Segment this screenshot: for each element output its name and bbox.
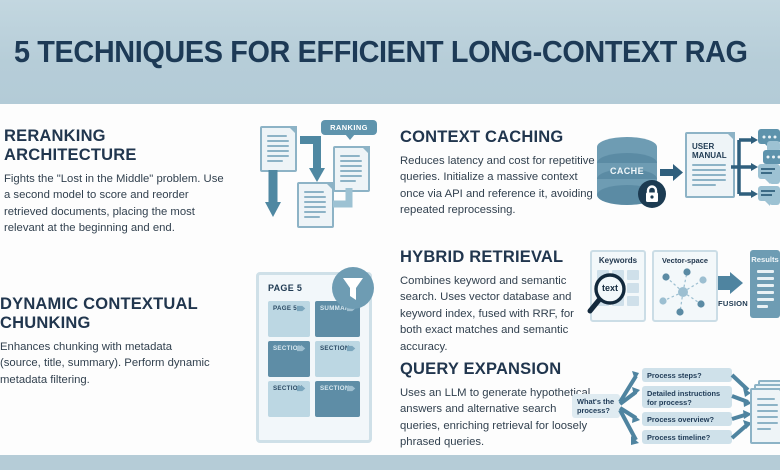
section-title-hybrid: HYBRID RETRIEVAL <box>400 248 596 267</box>
expansion-arrows <box>618 366 642 456</box>
page-panel-header: PAGE 5 <box>268 283 302 293</box>
chunk-tile-label: SECTION <box>320 345 350 352</box>
magnifier-text-label: text <box>596 283 624 293</box>
tag-icon <box>297 385 306 392</box>
section-hybrid-retrieval: HYBRID RETRIEVAL Combines keyword and se… <box>400 248 596 355</box>
results-panel: Results <box>750 250 780 318</box>
results-label: Results <box>750 255 780 264</box>
chunk-tile: SECTION <box>315 341 360 377</box>
tag-icon <box>347 345 356 352</box>
section-body-reranking: Fights the "Lost in the Middle" problem.… <box>4 171 232 237</box>
chunk-tile: SECTION <box>315 381 360 417</box>
chunk-tile-label: SECTION <box>320 385 350 392</box>
section-context-caching: CONTEXT CACHING Reduces latency and cost… <box>400 128 596 219</box>
expanded-query-box: Process overview? <box>642 412 732 426</box>
section-title-query: QUERY EXPANSION <box>400 360 596 379</box>
keywords-label: Keywords <box>592 256 644 265</box>
section-body-hybrid: Combines keyword and semantic search. Us… <box>400 273 596 355</box>
hybrid-illustration: Keywords text Vector-space <box>590 250 780 335</box>
doc-to-bubbles-connector <box>729 132 759 206</box>
chunk-tile: SECTION <box>268 341 310 377</box>
magnifier-icon <box>588 272 632 316</box>
chat-bubble-icon <box>769 174 780 184</box>
cache-to-doc-arrow <box>660 163 684 183</box>
section-title-caching: CONTEXT CACHING <box>400 128 596 147</box>
chat-bubble-icon <box>763 150 780 164</box>
chat-bubble-icon <box>769 196 780 205</box>
dots-icon <box>766 155 780 159</box>
section-body-query: Uses an LLM to generate hypothetical ans… <box>400 385 596 451</box>
chunk-tile: SECTION <box>268 381 310 417</box>
vector-space-panel: Vector-space <box>652 250 718 322</box>
vector-space-label: Vector-space <box>654 256 716 265</box>
reranking-illustration: RANKING <box>255 118 385 230</box>
expanded-query-box: Detailed instructions for process? <box>642 386 732 408</box>
source-query-line2: process? <box>577 406 615 415</box>
cache-label: CACHE <box>595 166 659 176</box>
user-manual-label-line1: USER <box>692 142 714 151</box>
section-body-caching: Reduces latency and cost for repetitive … <box>400 153 596 219</box>
infographic-page: 5 TECHNIQUES FOR EFFICIENT LONG-CONTEXT … <box>0 0 780 470</box>
section-title-chunking: DYNAMIC CONTEXTUAL CHUNKING <box>0 295 214 333</box>
footer-band <box>0 455 780 470</box>
fusion-arrow-icon <box>718 272 746 296</box>
chunk-tile-label: PAGE 5 <box>273 305 297 312</box>
tag-icon <box>297 345 306 352</box>
lock-badge <box>638 180 666 208</box>
lock-icon <box>638 180 666 208</box>
source-query-line1: What's the <box>577 397 615 406</box>
section-title-reranking: RERANKING ARCHITECTURE <box>4 127 232 165</box>
chunk-tile: PAGE 5 <box>268 301 310 337</box>
fusion-label: FUSION <box>716 299 750 308</box>
section-reranking: RERANKING ARCHITECTURE Fights the "Lost … <box>4 127 232 237</box>
source-query-box: What's the process? <box>572 394 620 418</box>
caching-illustration: CACHE USER MANUAL <box>595 128 780 223</box>
filter-funnel-badge <box>332 267 374 309</box>
user-manual-label-line2: MANUAL <box>692 151 727 160</box>
section-dynamic-contextual-chunking: DYNAMIC CONTEXTUAL CHUNKING Enhances chu… <box>0 295 214 388</box>
chunking-illustration: PAGE 5 PAGE 5 SUMMARY SECTION SECTION SE… <box>252 262 392 452</box>
ranking-badge-label: RANKING <box>330 123 368 132</box>
section-query-expansion: QUERY EXPANSION Uses an LLM to generate … <box>400 360 596 451</box>
tag-icon <box>347 385 356 392</box>
user-manual-document: USER MANUAL <box>685 132 735 198</box>
dots-icon <box>762 135 777 139</box>
result-document-icon <box>750 388 780 444</box>
query-expansion-illustration: What's the process? Process steps? Detai… <box>572 366 780 456</box>
badge-pointer-icon <box>345 134 355 140</box>
expanded-query-box: Process steps? <box>642 368 732 382</box>
tag-icon <box>297 305 306 312</box>
section-body-chunking: Enhances chunking with metadata (source,… <box>0 339 214 388</box>
vector-graph-icon <box>654 266 712 318</box>
ranking-badge: RANKING <box>321 120 377 135</box>
page-title: 5 TECHNIQUES FOR EFFICIENT LONG-CONTEXT … <box>14 30 721 74</box>
expanded-query-box: Process timeline? <box>642 430 732 444</box>
funnel-icon <box>332 267 374 309</box>
